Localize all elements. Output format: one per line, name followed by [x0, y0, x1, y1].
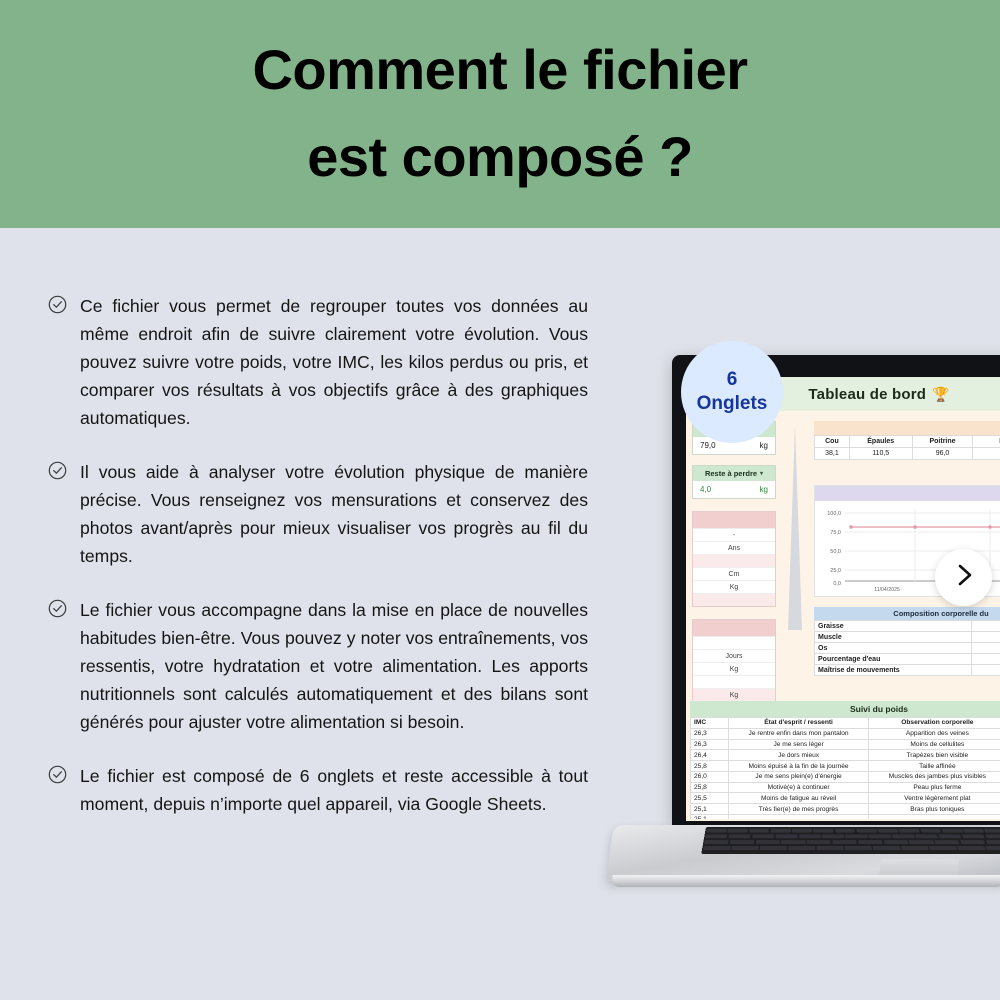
cell-imc: 26,3	[691, 739, 729, 750]
tabs-count-badge: 6 Onglets	[681, 341, 783, 443]
keyboard-row	[705, 828, 1000, 832]
cell-mood: Je me sens léger	[728, 739, 869, 750]
cell-value: 4,0%	[971, 643, 1000, 654]
cell-mood: Très fier(e) de mes progrès	[728, 804, 869, 815]
key	[962, 834, 986, 838]
kpi-label: Reste à perdre	[705, 469, 757, 478]
column-header: Cou	[815, 436, 850, 448]
cell-mood: Motivé(e) à continuer	[728, 782, 869, 793]
cell-observation: Moins de cellulites	[869, 739, 1000, 750]
cell-mood: Je rentre enfin dans mon pantalon	[728, 728, 869, 739]
key	[957, 846, 986, 851]
profile-row: -	[693, 528, 775, 541]
column-header: IMC	[691, 718, 729, 729]
kpi-column: Poids actuel 79,0 kg Reste à perdre ▾	[692, 421, 776, 702]
promo-slide: Comment le fichier est composé ? Ce fich…	[0, 0, 1000, 1000]
table-row: 26,3 Je me sens léger Moins de cellulite…	[691, 739, 1000, 750]
cell: 31,2	[973, 448, 1000, 460]
cell-value: 24,0%	[971, 621, 1000, 632]
check-circle-icon	[48, 461, 67, 480]
key	[752, 834, 774, 838]
list-item-text: Il vous aide à analyser votre évolution …	[80, 458, 588, 570]
key	[771, 828, 791, 832]
table-row: Muscle 72,0%	[815, 632, 1000, 643]
laptop-keyboard	[701, 827, 1000, 854]
key	[963, 828, 985, 832]
key	[728, 834, 750, 838]
key	[934, 840, 960, 844]
cell-observation: Muscles des jambes plus visibles	[869, 771, 1000, 782]
weight-tracking-table: Suivi du poids IMC État d'esprit / resse…	[690, 701, 1000, 819]
profile-row: Ans	[693, 541, 775, 554]
keyboard-row	[704, 834, 1000, 838]
cell-mood: Moins épuisé à la fin de la journée	[728, 761, 869, 772]
cell-value: 53,0%	[971, 654, 1000, 665]
key	[799, 834, 821, 838]
profile-row	[693, 554, 775, 567]
goal-row: Jours	[693, 649, 775, 662]
spreadsheet-body: Poids actuel 79,0 kg Reste à perdre ▾	[686, 411, 1000, 821]
keyboard-row	[702, 846, 1000, 851]
table-row: 26,4 Je dors mieux Trapèzes bien visible	[691, 750, 1000, 761]
key	[728, 828, 748, 832]
profile-row: Kg	[693, 580, 775, 593]
table-row: 26,0 Je me sens plein(e) d'énergie Muscl…	[691, 771, 1000, 782]
goal-row	[693, 675, 775, 688]
table-row: Pourcentage d'eau 53,0%	[815, 654, 1000, 665]
table-row: 25,5 Moins de fatigue au réveil Ventre l…	[691, 793, 1000, 804]
cell-observation: Peau plus ferme	[869, 782, 1000, 793]
key	[909, 840, 934, 844]
key	[986, 846, 1000, 851]
key	[938, 834, 961, 838]
list-item-text: Le fichier est composé de 6 onglets et r…	[80, 762, 588, 818]
key	[813, 828, 833, 832]
key	[730, 840, 754, 844]
feature-bullet-list: Ce fichier vous permet de regrouper tout…	[48, 292, 588, 818]
chevron-down-icon[interactable]: ▾	[760, 470, 763, 477]
key	[832, 840, 857, 844]
column-header: Épaules	[849, 436, 912, 448]
cell-imc: 25,5	[691, 793, 729, 804]
table-row: Graisse 24,0%	[815, 621, 1000, 632]
cell-imc: 26,4	[691, 750, 729, 761]
key	[807, 840, 831, 844]
cell-label: Os	[815, 643, 972, 654]
cell-imc: 26,0	[691, 771, 729, 782]
key	[985, 834, 1000, 838]
table-row: 38,1 110,5 96,0 31,2	[815, 448, 1000, 460]
laptop-mockup: Tableau de bord 🏆 Poids actuel 79,0 kg	[610, 355, 1000, 930]
cell-label: Muscle	[815, 632, 972, 643]
body-composition-table: Composition corporelle du Graisse 24,0% …	[814, 607, 1000, 676]
weight-tracking-title: Suivi du poids	[690, 701, 1000, 717]
list-item-text: Le fichier vous accompagne dans la mise …	[80, 596, 588, 736]
key	[706, 828, 727, 832]
next-slide-button[interactable]	[935, 549, 992, 606]
key	[835, 828, 855, 832]
svg-text:11/04/2025: 11/04/2025	[874, 587, 900, 593]
key	[877, 828, 898, 832]
key	[781, 840, 805, 844]
cell-imc: 26,3	[691, 728, 729, 739]
svg-text:100,0: 100,0	[827, 511, 841, 517]
keyboard-row	[703, 840, 1000, 844]
key	[901, 846, 929, 851]
table-row: Maîtrise de mouvements Tractions,	[815, 665, 1000, 676]
cell-label: Maîtrise de mouvements	[815, 665, 972, 676]
column-header: État d'esprit / ressenti	[728, 718, 869, 729]
key	[816, 846, 843, 851]
key	[703, 846, 730, 851]
laptop-front-edge	[611, 875, 1000, 887]
column-header: Observation corporelle	[869, 718, 1000, 729]
key	[929, 846, 957, 851]
cell-imc: 25,8	[691, 761, 729, 772]
cell-observation: Apparition des veines	[869, 728, 1000, 739]
cell-imc: 25,8	[691, 782, 729, 793]
key	[792, 828, 812, 832]
key	[822, 834, 844, 838]
cell-mood: Je dors mieux	[728, 750, 869, 761]
profile-block-header	[693, 512, 775, 528]
check-circle-icon	[48, 295, 67, 314]
key	[704, 840, 729, 844]
table-row: 25,8 Motivé(e) à continuer Peau plus fer…	[691, 782, 1000, 793]
key	[883, 840, 908, 844]
chevron-right-icon	[951, 562, 977, 593]
cell: 96,0	[912, 448, 973, 460]
cell-observation: Ventre légèrement plat	[869, 793, 1000, 804]
key	[749, 828, 769, 832]
table-row: Os 4,0%	[815, 643, 1000, 654]
kpi-card-reste-a-perdre: Reste à perdre ▾ 4,0 kg	[692, 465, 776, 499]
table-header-row: Cou Épaules Poitrine Bras gauche	[815, 436, 1000, 448]
kpi-unit: kg	[760, 485, 768, 494]
svg-text:0,0: 0,0	[833, 581, 841, 587]
trophy-icon: 🏆	[932, 386, 949, 403]
key	[845, 834, 868, 838]
key	[788, 846, 815, 851]
cell-observation: Taille affinée	[869, 761, 1000, 772]
key	[985, 840, 1000, 844]
cell-mood: Je me sens plein(e) d'énergie	[728, 771, 869, 782]
key	[960, 840, 986, 844]
header-title-line-1: Comment le fichier	[252, 27, 747, 114]
goal-block: Jours Kg Kg	[692, 619, 776, 702]
key	[755, 840, 779, 844]
list-item: Le fichier vous accompagne dans la mise …	[48, 596, 588, 736]
cell-value: 72,0%	[971, 632, 1000, 643]
header-title-line-2: est composé ?	[307, 114, 693, 201]
key	[731, 846, 758, 851]
key	[856, 828, 877, 832]
cell-label: Pourcentage d'eau	[815, 654, 972, 665]
key	[915, 834, 938, 838]
kpi-value: 79,0	[700, 441, 716, 450]
cell-value: Tractions,	[971, 665, 1000, 676]
table-row: 26,3 Je rentre enfin dans mon pantalon A…	[691, 728, 1000, 739]
check-circle-icon	[48, 599, 67, 618]
column-header: Bras gauche	[973, 436, 1000, 448]
badge-label: Onglets	[697, 392, 768, 416]
laptop-base	[610, 817, 1000, 897]
table-row: 25,1 Très fier(e) de mes progrès Bras pl…	[691, 804, 1000, 815]
key	[892, 834, 915, 838]
table-row: 25,8 Moins épuisé à la fin de la journée…	[691, 761, 1000, 772]
svg-text:25,0: 25,0	[830, 568, 841, 574]
column-header: Poitrine	[912, 436, 973, 448]
measurements-table: Cou Épaules Poitrine Bras gauche 38,1 11…	[814, 421, 1000, 460]
profile-row: Cm	[693, 567, 775, 580]
cell: 38,1	[815, 448, 850, 460]
cell-label: Graisse	[815, 621, 972, 632]
profile-row	[693, 593, 775, 606]
key	[899, 828, 920, 832]
goal-row	[693, 636, 775, 649]
cell-observation: Trapèzes bien visible	[869, 750, 1000, 761]
cell-mood: Moins de fatigue au réveil	[728, 793, 869, 804]
check-circle-icon	[48, 765, 67, 784]
cell-imc: 25,1	[691, 804, 729, 815]
chart-header-band	[815, 486, 1000, 501]
list-item: Ce fichier vous permet de regrouper tout…	[48, 292, 588, 432]
goal-row: Kg	[693, 662, 775, 675]
key	[858, 840, 883, 844]
cell-observation: Bras plus toniques	[869, 804, 1000, 815]
badge-number: 6	[727, 368, 738, 392]
key	[984, 828, 1000, 832]
key	[705, 834, 727, 838]
cell: 110,5	[849, 448, 912, 460]
key	[845, 846, 872, 851]
key	[873, 846, 901, 851]
list-item: Le fichier est composé de 6 onglets et r…	[48, 762, 588, 818]
header-banner: Comment le fichier est composé ?	[0, 0, 1000, 228]
kpi-value: 4,0	[700, 485, 711, 494]
key	[760, 846, 787, 851]
body-composition-title: Composition corporelle du	[814, 607, 1000, 620]
svg-text:50,0: 50,0	[830, 549, 841, 555]
kpi-unit: kg	[760, 441, 768, 450]
list-item-text: Ce fichier vous permet de regrouper tout…	[80, 292, 588, 432]
key	[869, 834, 892, 838]
decorative-spike	[782, 425, 808, 635]
goal-block-header	[693, 620, 775, 636]
key	[920, 828, 941, 832]
goal-row: Kg	[693, 688, 775, 701]
list-item: Il vous aide à analyser votre évolution …	[48, 458, 588, 570]
measurements-band	[814, 421, 1000, 435]
spreadsheet-title: Tableau de bord	[808, 386, 926, 403]
key	[775, 834, 797, 838]
svg-text:75,0: 75,0	[830, 530, 841, 536]
key	[941, 828, 962, 832]
profile-block: - Ans Cm Kg	[692, 511, 776, 607]
table-header-row: IMC État d'esprit / ressenti Observation…	[691, 718, 1000, 729]
